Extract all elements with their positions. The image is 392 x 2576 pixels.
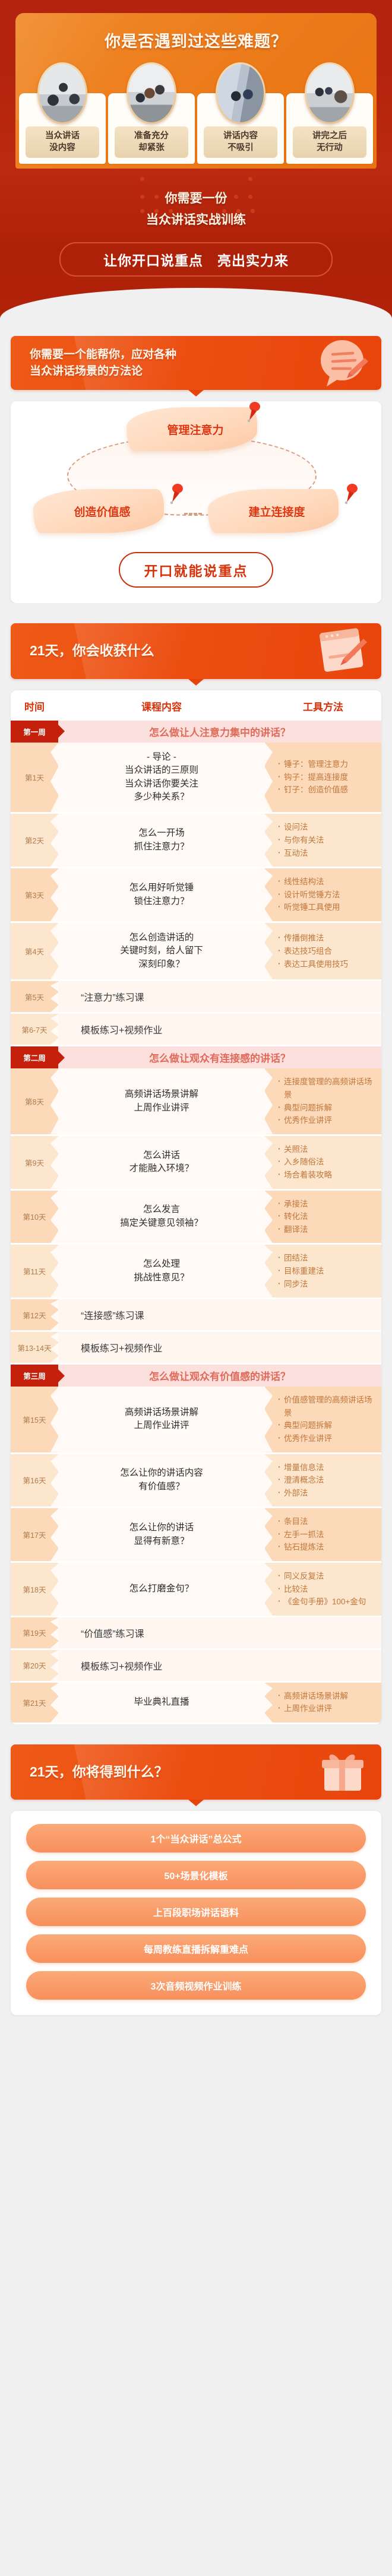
table-row: 第21天毕业典礼直播高频讲话场景讲解上周作业讲评 [11,1682,381,1723]
row-tools: 锤子：管理注意力钩子：提高连接度钉子：创造价值感 [265,743,381,813]
problem-label: 讲话内容 不吸引 [204,126,277,158]
office-presentation-photo-icon [128,64,175,122]
hero-bottom-curve [0,288,392,318]
problem-label-line2: 没内容 [27,142,98,154]
tool-item: 同步法 [278,1278,377,1291]
row-tools: 同义反复法比较法《金句手册》100+金句 [265,1562,381,1617]
hero-line-2: 当众讲话实战训练 [0,210,392,228]
table-row: 第15天高频讲话场景讲解上周作业讲评价值感管理的高频讲话场景典型问题拆解优秀作业… [11,1387,381,1453]
problem-photo-frame [127,62,176,124]
row-day: 第18天 [11,1562,58,1617]
results-card: 1个“当众讲话”总公式50+场景化模板上百段职场讲话语料每周教练直播拆解重难点3… [11,1811,381,2015]
tool-item: 同义反复法 [278,1570,377,1583]
table-row: 第2天怎么一开场抓住注意力？设问法与你有关法互动法 [11,813,381,868]
column-header-tools: 工具方法 [265,690,381,721]
row-content: “注意力”练习课 [58,981,381,1013]
tool-item: 传播倒推法 [278,932,377,945]
methodology-section: 你需要一个能帮你，应对各种 当众讲话场景的方法论 管理注意力 [0,318,392,603]
tool-item: 关照法 [278,1143,377,1156]
week-divider-row: 第三周怎么做让观众有价值感的讲话？ [11,1364,381,1387]
tool-item: 优秀作业讲评 [278,1432,377,1445]
problem-label-line2: 不吸引 [205,142,276,154]
problem-item: 讲完之后 无行动 [286,62,373,164]
problem-item: 当众讲话 没内容 [19,62,106,164]
result-pill: 上百段职场讲话语料 [26,1898,366,1926]
problem-label-line1: 讲完之后 [294,131,365,142]
table-row: 第12天“连接感”练习课 [11,1299,381,1331]
hero-section: 你需要一份 当众讲话实战训练 让你开口说重点 亮出实力来 [0,169,392,318]
tool-item: 钻石提炼法 [278,1541,377,1554]
row-day: 第19天 [11,1616,58,1649]
table-row: 第5天“注意力”练习课 [11,981,381,1013]
row-day: 第5天 [11,981,58,1013]
tool-item: 条目法 [278,1515,377,1528]
week-title: 怎么做让观众有价值感的讲话？ [58,1365,381,1387]
tool-item: 典型问题拆解 [278,1419,377,1432]
row-tools: 连接度管理的高频讲话场景典型问题拆解优秀作业讲评 [265,1068,381,1135]
row-content: “连接感”练习课 [58,1299,381,1331]
methodology-result-pill: 开口就能说重点 [119,552,273,588]
row-content: - 导论 -当众讲话的三原则当众讲话你要关注多少种关系？ [58,743,265,813]
methodology-banner: 你需要一个能帮你，应对各种 当众讲话场景的方法论 [11,336,381,390]
tool-item: 钩子：提高连接度 [278,771,377,784]
tool-item: 表达技巧组合 [278,945,377,958]
curriculum-card: 时间 课程内容 工具方法 第一周怎么做让人注意力集中的讲话？第1天- 导论 -当… [11,690,381,1724]
week-tag: 第一周 [11,721,58,743]
row-day: 第3天 [11,868,58,922]
tool-item: 入乡随俗法 [278,1156,377,1169]
tool-item: 高频讲话场景讲解 [278,1690,377,1703]
row-content: 怎么打磨金句？ [58,1562,265,1617]
table-row: 第6-7天模板练习+视频作业 [11,1013,381,1046]
row-tools: 条目法左手一抓法钻石提炼法 [265,1508,381,1562]
pushpin-icon [341,483,359,506]
pushpin-icon [244,401,261,424]
row-tools: 增量信息法澄清概念法外部法 [265,1453,381,1508]
tool-item: 与你有关法 [278,834,377,847]
row-tools: 传播倒推法表达技巧组合表达工具使用技巧 [265,922,381,981]
problem-item: 准备充分 却紧张 [108,62,195,164]
row-content: 怎么处理挑战性意见？ [58,1244,265,1299]
problem-label: 准备充分 却紧张 [115,126,188,158]
banner-arrow-icon [188,390,204,396]
table-row: 第20天模板练习+视频作业 [11,1649,381,1682]
table-row: 第17天怎么让你的讲话显得有新意？条目法左手一抓法钻石提炼法 [11,1508,381,1562]
hero-line-1: 你需要一份 [0,189,392,207]
table-row: 第18天怎么打磨金句？同义反复法比较法《金句手册》100+金句 [11,1562,381,1617]
row-content: 模板练习+视频作业 [58,1331,381,1364]
row-day: 第4天 [11,922,58,981]
tool-item: 转化法 [278,1210,377,1223]
methodology-card: 管理注意力 创造价值感 建立连接度 [11,401,381,603]
triangle-connector [184,513,202,515]
table-row: 第8天高频讲话场景讲解上周作业讲评连接度管理的高频讲话场景典型问题拆解优秀作业讲… [11,1068,381,1135]
standing-group-photo-icon [306,64,353,122]
method-leaf-top-label: 管理注意力 [167,421,223,437]
result-pill: 每周教练直播拆解重难点 [26,1934,366,1963]
row-day: 第2天 [11,813,58,868]
problem-label: 当众讲话 没内容 [26,126,99,158]
tool-item: 价值感管理的高频讲话场景 [278,1394,377,1419]
tool-item: 听觉锤工具使用 [278,901,377,914]
table-row: 第3天怎么用好听觉锤锁住注意力？线性结构法设计听觉锤方法听觉锤工具使用 [11,868,381,922]
row-tools: 线性结构法设计听觉锤方法听觉锤工具使用 [265,868,381,922]
week-tag: 第三周 [11,1365,58,1387]
row-content: 模板练习+视频作业 [58,1649,381,1682]
week-title: 怎么做让人注意力集中的讲话？ [58,721,381,743]
row-day: 第11天 [11,1244,58,1299]
result-pill: 3次音频视频作业训练 [26,1971,366,2000]
tool-item: 设计听觉锤方法 [278,889,377,902]
method-leaf-left-label: 创造价值感 [74,503,130,519]
tool-item: 优秀作业讲评 [278,1114,377,1127]
problem-label-line2: 无行动 [294,142,365,154]
problems-title: 你是否遇到过这些难题？ [15,28,377,52]
notebook-pencil-icon [314,626,371,677]
row-tools: 承接法转化法翻译法 [265,1189,381,1244]
row-day: 第8天 [11,1068,58,1135]
row-content: 怎么讲话才能融入环境？ [58,1135,265,1189]
row-content: 怎么让你的讲话显得有新意？ [58,1508,265,1562]
table-body: 第一周怎么做让人注意力集中的讲话？第1天- 导论 -当众讲话的三原则当众讲话你要… [11,721,381,1724]
tool-item: 《金句手册》100+金句 [278,1595,377,1609]
tool-item: 团结法 [278,1252,377,1265]
table-row: 第9天怎么讲话才能融入环境？关照法入乡随俗法场合着装攻略 [11,1135,381,1189]
week-divider-row: 第二周怎么做让观众有连接感的讲话？ [11,1046,381,1069]
tool-item: 互动法 [278,847,377,860]
problem-photo-frame [305,62,355,124]
row-tools: 团结法目标重建法同步法 [265,1244,381,1299]
problem-item: 讲话内容 不吸引 [197,62,284,164]
row-content: 怎么用好听觉锤锁住注意力？ [58,868,265,922]
row-tools: 关照法入乡随俗法场合着装攻略 [265,1135,381,1189]
week-divider-row: 第一周怎么做让人注意力集中的讲话？ [11,721,381,743]
tool-item: 目标重建法 [278,1265,377,1278]
row-day: 第12天 [11,1299,58,1331]
tool-item: 增量信息法 [278,1461,377,1474]
row-tools: 高频讲话场景讲解上周作业讲评 [265,1682,381,1723]
problems-card: 你是否遇到过这些难题？ 当众讲话 没内容 [15,13,377,169]
results-banner: 21天，你将得到什么？ [11,1744,381,1800]
problem-label-line1: 当众讲话 [27,131,98,142]
method-leaf-right: 建立连接度 [208,489,339,533]
problems-grid: 当众讲话 没内容 准备充分 却紧张 [15,62,377,169]
results-section: 21天，你将得到什么？ 1个“当众讲话”总公式50+场景化模板上百段职场讲话语料… [0,1724,392,2033]
problem-label-line2: 却紧张 [116,142,187,154]
tool-item: 外部法 [278,1487,377,1500]
tool-item: 锤子：管理注意力 [278,758,377,771]
row-content: “价值感”练习课 [58,1616,381,1649]
row-day: 第20天 [11,1649,58,1682]
column-header-time: 时间 [11,690,58,721]
table-row: 第11天怎么处理挑战性意见？团结法目标重建法同步法 [11,1244,381,1299]
tool-item: 场合着装攻略 [278,1169,377,1182]
gift-box-icon [314,1747,371,1798]
row-day: 第21天 [11,1682,58,1723]
curriculum-table: 时间 课程内容 工具方法 第一周怎么做让人注意力集中的讲话？第1天- 导论 -当… [11,690,381,1724]
row-content: 模板练习+视频作业 [58,1013,381,1046]
problem-photo-frame [37,62,87,124]
office-meeting-photo-icon [39,64,86,122]
result-pill: 50+场景化模板 [26,1861,366,1889]
column-header-content: 课程内容 [58,690,265,721]
table-row: 第1天- 导论 -当众讲话的三原则当众讲话你要关注多少种关系？锤子：管理注意力钩… [11,743,381,813]
methodology-triangle: 管理注意力 创造价值感 建立连接度 [11,401,381,550]
curriculum-section: 21天，你会收获什么 时间 课程内容 [0,603,392,1724]
row-day: 第13-14天 [11,1331,58,1364]
banner-arrow-icon [188,679,204,686]
row-day: 第1天 [11,743,58,813]
row-tools: 设问法与你有关法互动法 [265,813,381,868]
problem-label-line1: 准备充分 [116,131,187,142]
problem-label: 讲完之后 无行动 [293,126,366,158]
problem-label-line1: 讲话内容 [205,131,276,142]
tool-item: 线性结构法 [278,875,377,889]
tool-item: 典型问题拆解 [278,1102,377,1115]
tool-item: 上周作业讲评 [278,1702,377,1715]
row-content: 怎么创造讲话的关键时刻，给人留下深刻印象？ [58,922,265,981]
row-tools: 价值感管理的高频讲话场景典型问题拆解优秀作业讲评 [265,1387,381,1453]
row-day: 第6-7天 [11,1013,58,1046]
pushpin-icon [166,483,184,506]
table-row: 第10天怎么发言搞定关键意见领袖？承接法转化法翻译法 [11,1189,381,1244]
tool-item: 设问法 [278,821,377,834]
curriculum-banner: 21天，你会收获什么 [11,623,381,678]
method-leaf-left: 创造价值感 [33,489,164,533]
row-day: 第16天 [11,1453,58,1508]
tool-item: 承接法 [278,1198,377,1211]
table-row: 第16天怎么让你的讲话内容有价值感？增量信息法澄清概念法外部法 [11,1453,381,1508]
problem-photo-frame [216,62,265,124]
row-day: 第10天 [11,1189,58,1244]
method-leaf-right-label: 建立连接度 [248,503,305,519]
tool-item: 表达工具使用技巧 [278,958,377,971]
week-title: 怎么做让观众有连接感的讲话？ [58,1046,381,1068]
banner-arrow-icon [188,1800,204,1806]
row-content: 怎么让你的讲话内容有价值感？ [58,1453,265,1508]
tool-item: 翻译法 [278,1223,377,1236]
row-day: 第15天 [11,1387,58,1453]
problems-section: 你是否遇到过这些难题？ 当众讲话 没内容 [0,0,392,169]
table-header-row: 时间 课程内容 工具方法 [11,690,381,721]
result-pill: 1个“当众讲话”总公式 [26,1824,366,1852]
method-leaf-top: 管理注意力 [127,407,257,451]
tool-item: 钉子：创造价值感 [278,783,377,797]
hero-slogan-pill: 让你开口说重点 亮出实力来 [59,242,333,277]
row-content: 高频讲话场景讲解上周作业讲评 [58,1387,265,1453]
tool-item: 比较法 [278,1583,377,1596]
table-row: 第19天“价值感”练习课 [11,1616,381,1649]
row-day: 第9天 [11,1135,58,1189]
tool-item: 澄清概念法 [278,1474,377,1487]
conference-table-photo-icon [217,64,264,122]
landing-page: 你是否遇到过这些难题？ 当众讲话 没内容 [0,0,392,2033]
row-content: 怎么发言搞定关键意见领袖？ [58,1189,265,1244]
table-row: 第13-14天模板练习+视频作业 [11,1331,381,1364]
row-content: 毕业典礼直播 [58,1682,265,1723]
speech-bubble-pen-icon [314,338,371,389]
row-content: 怎么一开场抓住注意力？ [58,813,265,868]
tool-item: 连接度管理的高频讲话场景 [278,1076,377,1101]
week-tag: 第二周 [11,1046,58,1068]
tool-item: 左手一抓法 [278,1528,377,1541]
row-content: 高频讲话场景讲解上周作业讲评 [58,1068,265,1135]
table-head: 时间 课程内容 工具方法 [11,690,381,721]
table-row: 第4天怎么创造讲话的关键时刻，给人留下深刻印象？传播倒推法表达技巧组合表达工具使… [11,922,381,981]
row-day: 第17天 [11,1508,58,1562]
